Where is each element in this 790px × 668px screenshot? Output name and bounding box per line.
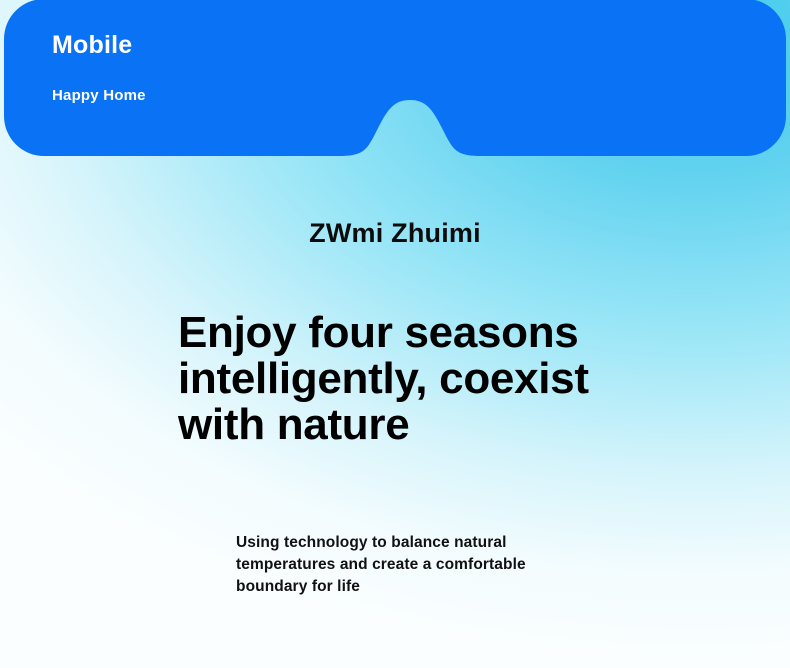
brand-name: ZWmi Zhuimi	[0, 217, 790, 249]
header-shape	[4, 0, 786, 156]
app-screen: Mobile Happy Home ZWmi Zhuimi Enjoy four…	[0, 0, 790, 668]
page-description: Using technology to balance natural temp…	[236, 532, 576, 598]
loading-arc-icon[interactable]	[684, 57, 736, 99]
header-card: Mobile Happy Home	[4, 0, 786, 156]
page-headline: Enjoy four seasons intelligently, coexis…	[178, 310, 648, 449]
